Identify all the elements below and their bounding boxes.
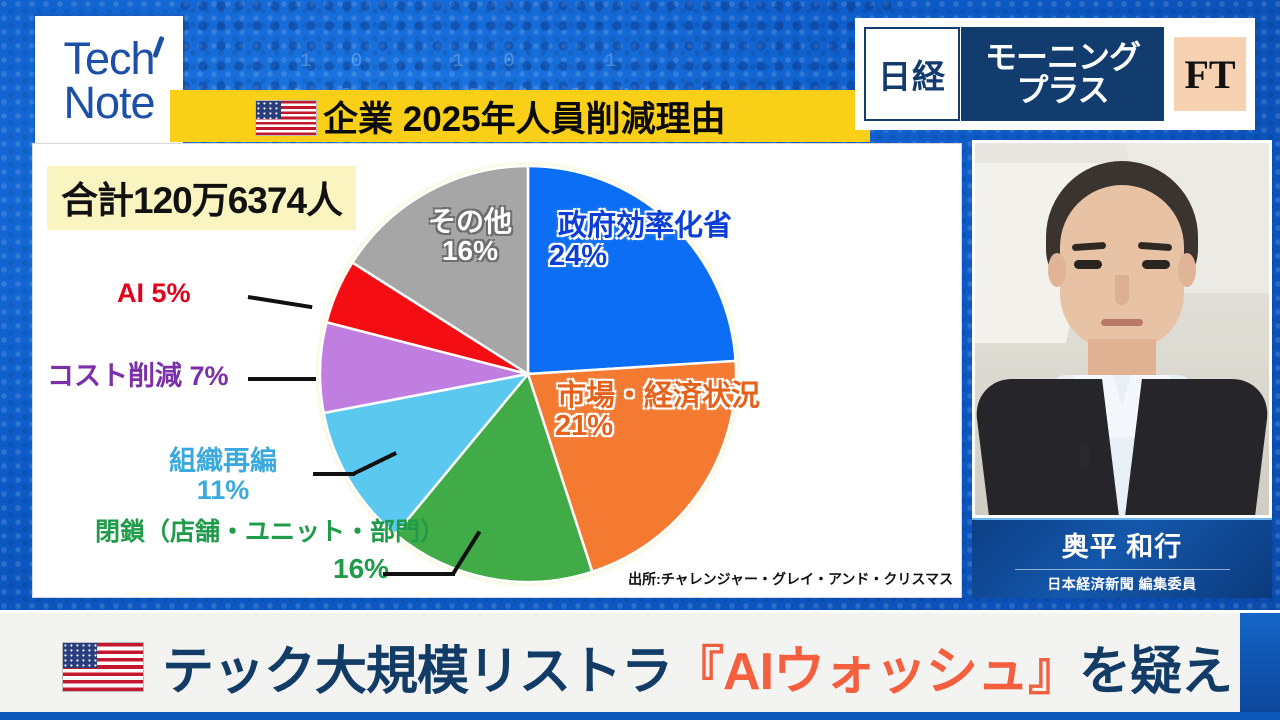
leader-label-reorg-name: 組織再編 <box>143 447 303 476</box>
caption-highlight: 『AIウォッシュ』 <box>672 643 1079 701</box>
presenter-nameplate: 奥平 和行 日本経済新聞 編集委員 <box>972 518 1272 598</box>
presenter-photo <box>972 140 1272 518</box>
morning-plus-line1: モーニング <box>985 41 1140 74</box>
lapel-microphone-icon <box>1080 443 1089 469</box>
leader-line-reorg-h <box>313 472 355 476</box>
total-label: 合計120万6374人 <box>61 180 342 221</box>
presenter-ear-right <box>1178 253 1196 287</box>
presenter-nose <box>1115 275 1129 305</box>
us-flag-icon <box>255 100 317 136</box>
ft-logo: FT <box>1174 37 1246 111</box>
brand-logo-block: 日経 モーニング プラス FT <box>855 18 1255 130</box>
presenter-eye-right <box>1142 260 1170 269</box>
pie-slice <box>528 166 736 374</box>
leader-label-closure: 閉鎖（店舗・ユニット・部門） <box>95 519 445 546</box>
leader-label-reorg-pct: 11% <box>143 476 303 505</box>
presenter-role: 日本経済新聞 編集委員 <box>1047 574 1196 594</box>
morning-plus-logo: モーニング プラス <box>961 27 1164 121</box>
leader-line-cost <box>248 377 316 381</box>
leader-label-reorg: 組織再編 11% <box>143 447 303 504</box>
presenter-ear-left <box>1048 253 1066 287</box>
presenter-jacket-right <box>1124 379 1272 518</box>
nameplate-divider <box>1015 569 1230 570</box>
chart-source: 出所:チャレンジャー・グレイ・アンド・クリスマス <box>628 569 953 589</box>
leader-line-closure-h <box>383 572 455 576</box>
caption-right-accent <box>1240 613 1280 720</box>
presenter-eye-left <box>1074 260 1102 269</box>
technote-logo: Tech Note <box>35 16 183 146</box>
bottom-caption-bar: テック大規模リストラ『AIウォッシュ』を疑え <box>0 610 1280 720</box>
us-flag-icon <box>62 642 144 692</box>
leader-label-cost: コスト削減 7% <box>47 362 229 391</box>
morning-plus-line2: プラス <box>1016 74 1108 107</box>
title-bar: 企業 2025年人員削減理由 <box>170 90 870 142</box>
page-title: 企業 2025年人員削減理由 <box>323 91 726 142</box>
presenter-jacket-left <box>972 379 1120 518</box>
presenter-name: 奥平 和行 <box>1062 525 1183 564</box>
presenter-mouth <box>1101 319 1143 326</box>
chart-panel: 合計120万6374人 政府効率化省 24% 市場・経済状況 21% その他 1… <box>32 143 962 598</box>
technote-logo-line1: Tech <box>63 37 154 81</box>
leader-line-ai <box>248 295 313 309</box>
nikkei-logo: 日経 <box>864 27 960 121</box>
leader-label-ai: AI 5% <box>117 279 191 308</box>
leader-label-closure-pct: 16% <box>333 554 389 584</box>
technote-logo-line2: Note <box>63 81 154 125</box>
caption-text: テック大規模リストラ『AIウォッシュ』を疑え <box>162 629 1232 704</box>
bottom-strip <box>0 712 1280 720</box>
caption-part2: を疑え <box>1079 643 1232 701</box>
caption-part1: テック大規模リストラ <box>162 643 672 701</box>
total-badge: 合計120万6374人 <box>47 166 356 230</box>
